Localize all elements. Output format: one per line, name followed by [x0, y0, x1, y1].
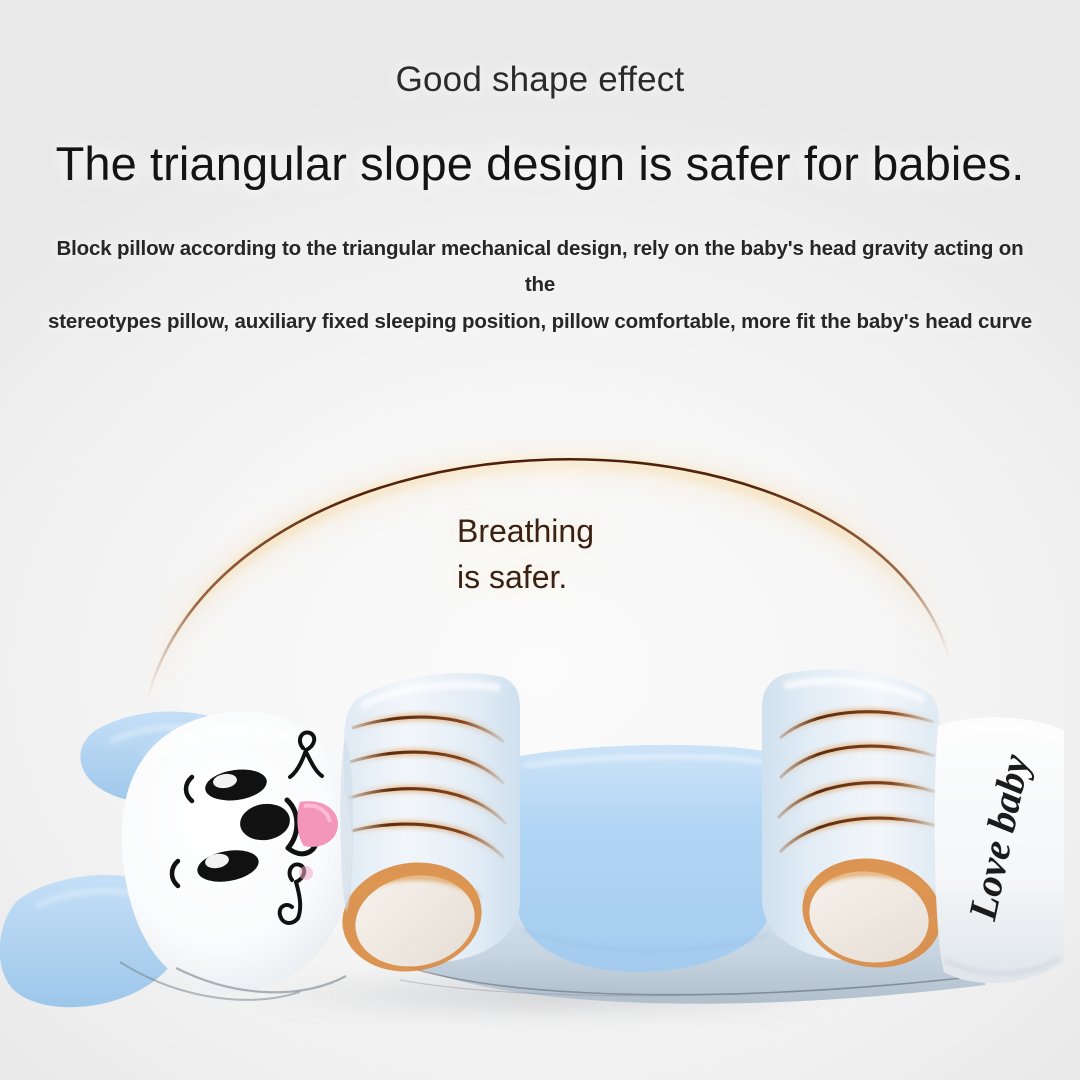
callout-line-1: Breathing — [457, 508, 594, 554]
center-pillow — [516, 745, 772, 972]
description-paragraph: Block pillow according to the triangular… — [48, 231, 1033, 340]
breathing-callout: Breathing is safer. — [457, 508, 594, 600]
description-line-1: Block pillow according to the triangular… — [48, 231, 1033, 304]
right-bolster — [762, 669, 950, 978]
page-title: The triangular slope design is safer for… — [0, 136, 1080, 191]
bunny-cheek-dot — [299, 866, 313, 880]
callout-line-2: is safer. — [457, 554, 594, 600]
description-line-2: stereotypes pillow, auxiliary fixed slee… — [48, 304, 1033, 340]
product-marketing-image: Good shape effect The triangular slope d… — [0, 0, 1080, 1080]
text-block: Good shape effect The triangular slope d… — [0, 0, 1080, 340]
kicker-heading: Good shape effect — [0, 60, 1080, 100]
bunny-head — [122, 711, 352, 992]
brand-pillow: Love baby — [935, 717, 1064, 983]
left-bolster — [334, 673, 520, 982]
